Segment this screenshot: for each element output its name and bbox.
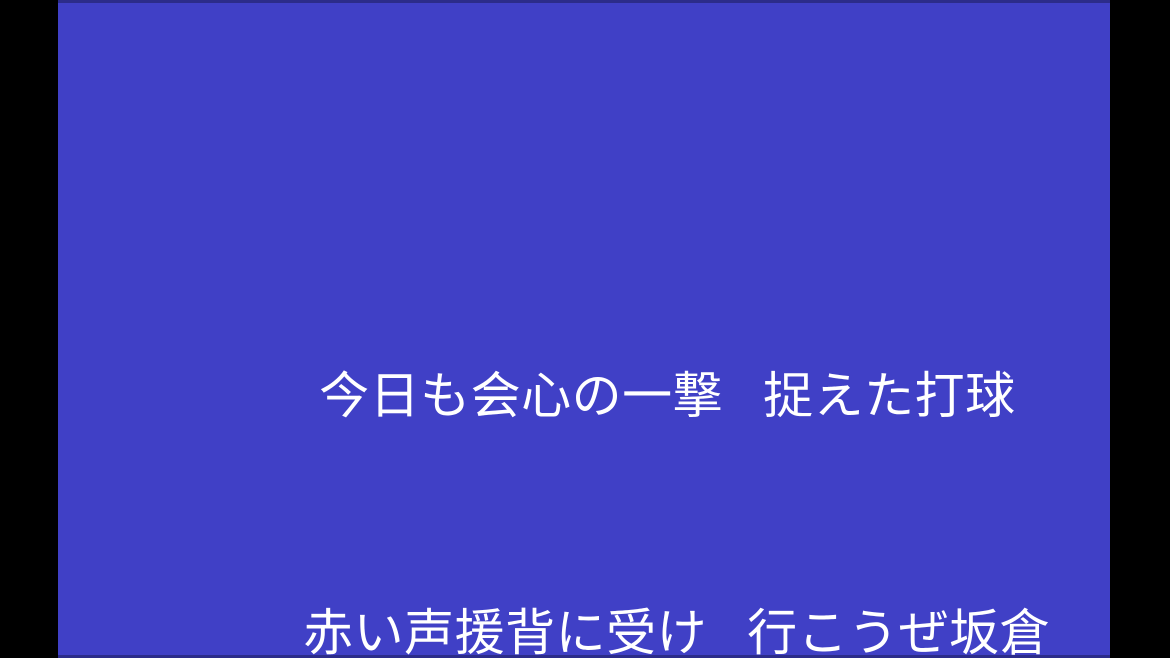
lyric-line-2-phrase-2: 行こうぜ坂倉 bbox=[747, 604, 1050, 658]
letterbox-bar-right bbox=[1110, 0, 1170, 658]
lyric-line-1-phrase-1: 今日も会心の一撃 bbox=[319, 367, 723, 425]
lyric-text-block: 今日も会心の一撃捉えた打球 赤い声援背に受け行こうぜ坂倉 bbox=[58, 278, 1110, 658]
lyric-line-2-phrase-1: 赤い声援背に受け bbox=[303, 604, 707, 658]
video-frame: 今日も会心の一撃捉えた打球 赤い声援背に受け行こうぜ坂倉 bbox=[0, 0, 1170, 658]
lyric-line-1-phrase-2: 捉えた打球 bbox=[763, 367, 1016, 425]
letterbox-bar-left bbox=[0, 0, 58, 658]
lyric-line-1: 今日も会心の一撃捉えた打球 bbox=[58, 278, 1110, 515]
slide-background: 今日も会心の一撃捉えた打球 赤い声援背に受け行こうぜ坂倉 bbox=[58, 0, 1110, 658]
lyric-line-2: 赤い声援背に受け行こうぜ坂倉 bbox=[58, 515, 1110, 658]
